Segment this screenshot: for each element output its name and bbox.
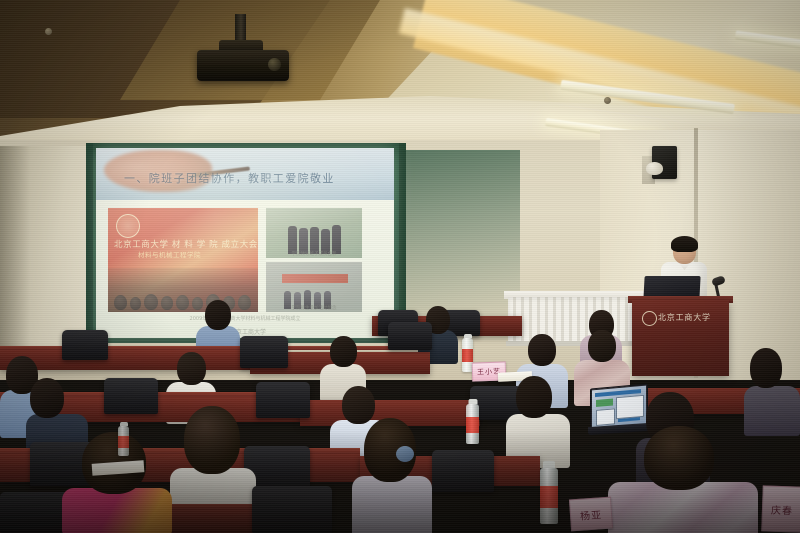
university-emblem-icon bbox=[116, 214, 140, 238]
slide-photo-top: 学院领导班子成员合影 bbox=[266, 208, 362, 258]
person-torso-pink bbox=[62, 488, 172, 533]
person-torso bbox=[744, 386, 800, 436]
water-bottle-3 bbox=[540, 468, 558, 524]
projection-screen: 一、院班子团结协作，教职工爱院敬业 北京工商大学 材 料 学 院 成立大会 材料… bbox=[96, 148, 394, 338]
person-head bbox=[330, 336, 357, 367]
water-bottle-2 bbox=[466, 404, 479, 444]
slide-title: 一、院班子团结协作，教职工爱院敬业 bbox=[124, 170, 392, 186]
chair-r2-3 bbox=[432, 450, 494, 492]
presenter-hair bbox=[671, 236, 698, 252]
podium-university-text: 北京工商大学 bbox=[658, 312, 740, 323]
name-placard-yang: 杨亚 bbox=[569, 497, 613, 532]
slide-photo-bottom-caption: 学院师生参加活动留念 bbox=[266, 305, 362, 311]
slide-banner-photo: 北京工商大学 材 料 学 院 成立大会 材料与机械工程学院 bbox=[108, 208, 258, 312]
audience-person-right-1 bbox=[506, 376, 570, 464]
chalkboard-trim-left bbox=[86, 143, 93, 343]
water-bottle-4 bbox=[118, 426, 129, 456]
chair-r3-2 bbox=[256, 382, 310, 418]
person-head bbox=[528, 334, 556, 366]
person-head bbox=[750, 348, 782, 388]
person-torso bbox=[352, 476, 432, 533]
wall-speaker-dome-icon bbox=[646, 162, 663, 175]
slide-photo-top-caption: 学院领导班子成员合影 bbox=[266, 251, 362, 257]
podium-emblem-icon bbox=[642, 311, 657, 326]
hair-clip-icon bbox=[396, 446, 414, 462]
audience-person-front-2 bbox=[352, 418, 432, 533]
chair-r1-2 bbox=[252, 486, 332, 533]
sprinkler-icon-2 bbox=[604, 97, 611, 104]
person-head bbox=[205, 300, 231, 330]
person-head bbox=[644, 426, 714, 490]
slide-banner-line-2: 材料与机械工程学院 bbox=[138, 249, 258, 259]
chalkboard-right-extension bbox=[400, 150, 520, 325]
chair-r4-2 bbox=[240, 336, 288, 368]
slide-photo-bottom-banner bbox=[282, 274, 348, 283]
lecture-hall-photo: 一、院班子团结协作，教职工爱院敬业 北京工商大学 材 料 学 院 成立大会 材料… bbox=[0, 0, 800, 533]
slide-photo-bottom: 学院师生参加活动留念 bbox=[266, 262, 362, 312]
projector-lens-icon bbox=[268, 58, 281, 71]
chair-r4-1 bbox=[62, 330, 108, 360]
person-head bbox=[588, 330, 616, 362]
chair-r4-3 bbox=[388, 322, 432, 350]
slide-footer-caption: 2009年9月北京工商大学材料与机械工程学院成立 bbox=[104, 315, 386, 322]
audience-person-right-3 bbox=[744, 348, 800, 434]
person-head-curly bbox=[184, 406, 240, 474]
sprinkler-icon-1 bbox=[45, 28, 52, 35]
chair-r3-1 bbox=[104, 378, 158, 414]
person-head bbox=[177, 352, 206, 385]
left-wall-shadow bbox=[0, 146, 30, 366]
slide-body: 北京工商大学 材 料 学 院 成立大会 材料与机械工程学院 bbox=[96, 200, 394, 338]
name-placard-qingchun: 庆春 bbox=[761, 485, 800, 532]
audience-person-foreground-2 bbox=[608, 448, 758, 533]
person-head bbox=[516, 376, 552, 418]
person-head bbox=[30, 378, 64, 418]
